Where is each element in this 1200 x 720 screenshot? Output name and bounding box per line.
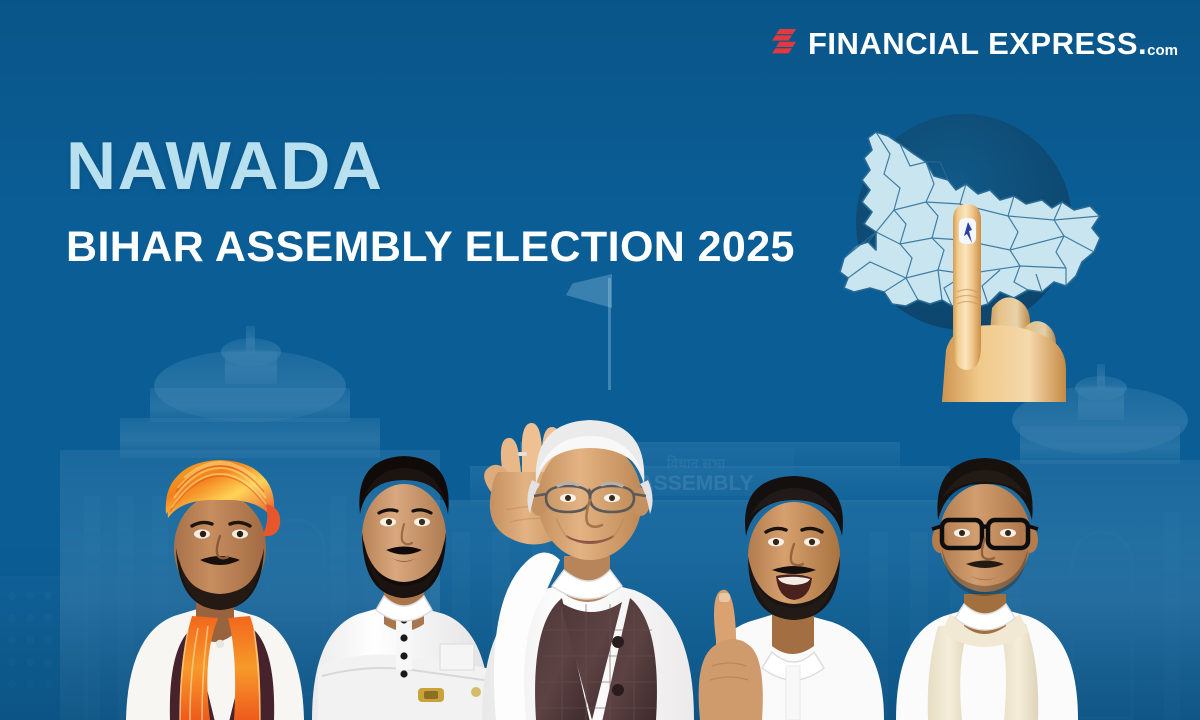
logo-tld: com — [1147, 42, 1178, 59]
logo-wordmark: FINANCIAL EXPRESS.com — [808, 28, 1178, 59]
financial-express-logo[interactable]: FINANCIAL EXPRESS.com — [771, 21, 1178, 65]
logo-brand-text: FINANCIAL EXPRESS — [808, 26, 1138, 61]
bihar-districts-map-with-inked-finger — [814, 92, 1114, 402]
page-subtitle: BIHAR ASSEMBLY ELECTION 2025 — [66, 226, 795, 269]
bihar-map-graphic — [814, 92, 1114, 402]
financial-express-logo-mark — [771, 28, 797, 58]
page-title: NAWADA — [66, 132, 809, 200]
election-banner: ASSEMBLY विधान सभा — [0, 0, 1200, 720]
headline-block: NAWADA BIHAR ASSEMBLY ELECTION 2025 — [66, 132, 795, 269]
logo-dot: . — [1138, 26, 1147, 61]
